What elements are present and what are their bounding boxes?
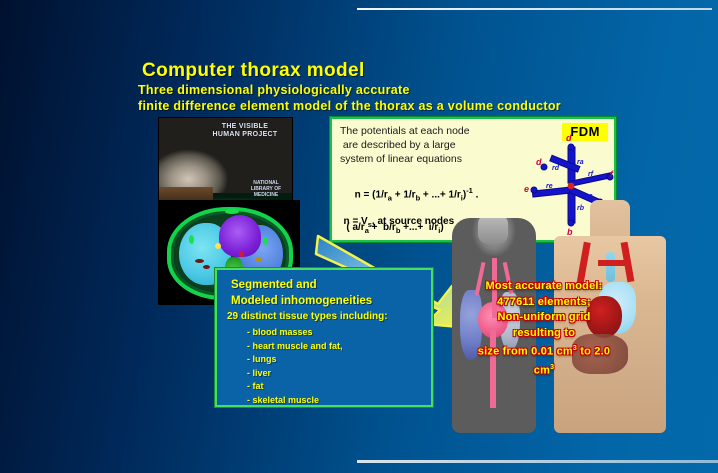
visible-human-overlay-title: THE VISIBLE HUMAN PROJECT	[209, 123, 281, 139]
segmented-subheading: 29 distinct tissue types including:	[227, 311, 388, 322]
callout-sup-2: 3	[550, 364, 554, 371]
resistor-label-re: re	[546, 183, 553, 190]
resistor-label-rc: rc	[586, 193, 593, 200]
node-label-f: f	[610, 169, 613, 179]
tissue-marker-b	[239, 251, 244, 257]
list-item: - lungs	[247, 353, 343, 367]
tissue-type-list: - blood masses - heart muscle and fat, -…	[247, 326, 343, 407]
subtitle-line-2: finite difference element model of the t…	[138, 99, 561, 113]
callout-unit: cm	[534, 365, 550, 377]
resistor-label-rd: rd	[552, 165, 559, 172]
slide-canvas: Computer thorax model Three dimensional …	[0, 0, 718, 473]
top-divider-rule	[357, 8, 712, 10]
tissue-marker-d	[203, 265, 210, 269]
segmented-heading-line-2: Modeled inhomogeneities	[231, 295, 372, 307]
callout-line-1: Most accurate model:	[462, 279, 626, 295]
callout-line-6: cm3	[462, 360, 626, 379]
callout-line-5: size from 0.01 cm3 to 2.0	[462, 341, 626, 360]
tissue-marker-h	[225, 209, 239, 214]
list-item: - heart muscle and fat,	[247, 340, 343, 354]
callout-size-prefix: size from 0.01 cm	[478, 346, 573, 358]
subtitle-line-1: Three dimensional physiologically accura…	[138, 83, 410, 97]
segmented-heading-line-1: Segmented and	[231, 279, 317, 291]
list-item: - fat	[247, 380, 343, 394]
callout-line-3: Non-uniform grid	[462, 310, 626, 326]
callout-line-4: resulting to	[462, 326, 626, 342]
callout-line-2: 477611 elements;	[462, 295, 626, 311]
node-label-e: e	[524, 184, 529, 194]
page-subtitle: Three dimensional physiologically accura…	[138, 82, 561, 114]
bottom-divider-rule	[357, 460, 718, 463]
node-label-d-top: d	[566, 133, 572, 143]
tissue-marker-g	[263, 237, 268, 245]
torso-color-arch	[598, 260, 626, 266]
tissue-marker-c	[195, 259, 204, 263]
tissue-marker-a	[215, 243, 221, 249]
page-title: Computer thorax model	[142, 60, 365, 82]
resistor-label-rf: rf	[588, 171, 593, 178]
list-item: - skeletal muscle	[247, 394, 343, 408]
callout-size-suffix: to 2.0	[577, 346, 610, 358]
fdm-description: The potentials at each node are describe…	[340, 124, 530, 166]
torso-color-trachea	[606, 252, 615, 282]
torso-gray-neck	[478, 218, 508, 244]
visible-human-photo: THE VISIBLE HUMAN PROJECT NATIONAL LIBRA…	[158, 117, 293, 204]
list-item: - blood masses	[247, 326, 343, 340]
tissue-marker-e	[255, 257, 262, 262]
node-label-d: d	[536, 157, 542, 167]
segmented-heading: Segmented and Modeled inhomogeneities	[231, 277, 372, 309]
segmented-info-box: Segmented and Modeled inhomogeneities 29…	[215, 268, 433, 407]
resistor-label-ra: ra	[577, 159, 584, 166]
visible-human-overlay-subtitle: NATIONAL LIBRARY OF MEDICINE	[243, 180, 289, 198]
accuracy-callout: Most accurate model: 477611 elements; No…	[462, 279, 626, 379]
tissue-marker-f	[189, 235, 194, 244]
list-item: - liver	[247, 367, 343, 381]
